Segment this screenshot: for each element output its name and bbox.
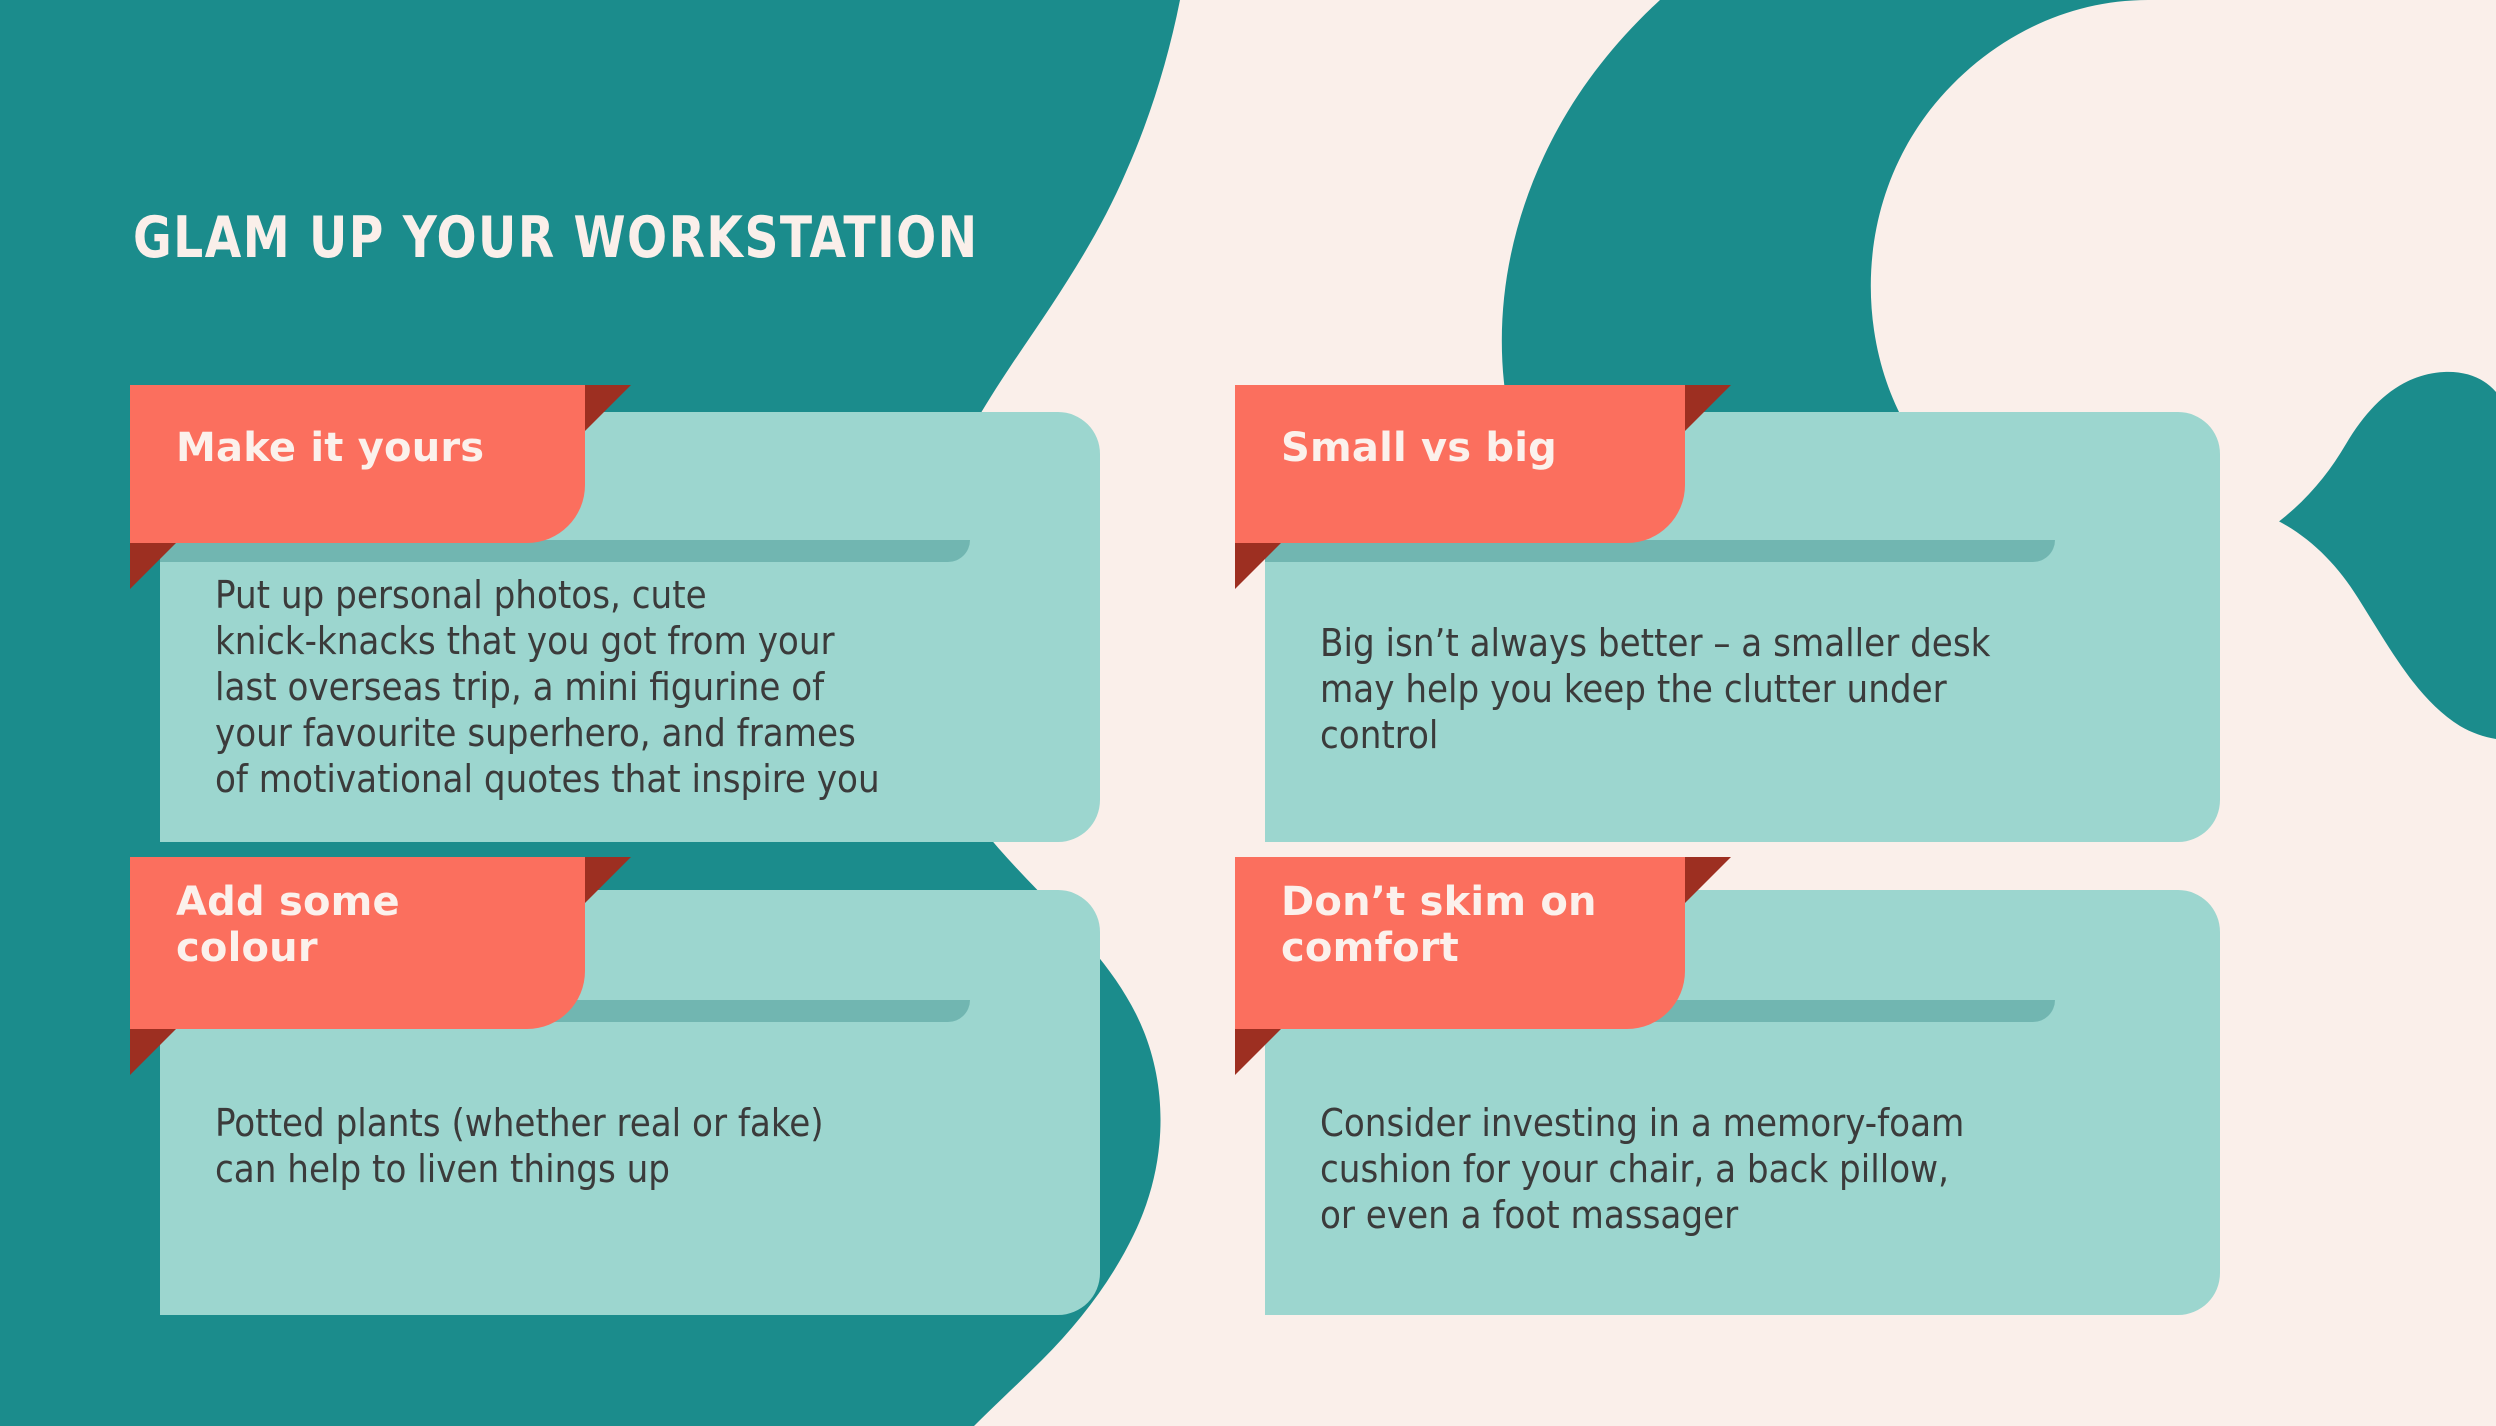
ribbon-fold-bottom-left-icon xyxy=(130,1029,176,1075)
ribbon-fold-top-right-icon xyxy=(585,857,631,903)
card-body-text: Big isn’t always better – a smaller desk… xyxy=(1320,620,2220,758)
card-body-text: Put up personal photos, cute knick-knack… xyxy=(215,572,1105,802)
ribbon-fold-top-right-icon xyxy=(1685,857,1731,903)
card-heading-label: Small vs big xyxy=(1281,425,1557,471)
ribbon-fold-bottom-left-icon xyxy=(1235,543,1281,589)
ribbon-fold-top-right-icon xyxy=(1685,385,1731,431)
card-body-text: Potted plants (whether real or fake) can… xyxy=(215,1100,1105,1192)
card-heading-ribbon[interactable]: Small vs big xyxy=(1235,385,1685,543)
ribbon-shadow-strip xyxy=(160,540,970,562)
card-heading-ribbon[interactable]: Add some colour xyxy=(130,857,585,1029)
card-heading-ribbon[interactable]: Make it yours xyxy=(130,385,585,543)
card-heading-label: Add some colour xyxy=(176,879,400,971)
ribbon-fold-bottom-left-icon xyxy=(130,543,176,589)
card-heading-label: Don’t skim on comfort xyxy=(1281,879,1597,971)
ribbon-shadow-strip xyxy=(1265,540,2055,562)
card-heading-ribbon[interactable]: Don’t skim on comfort xyxy=(1235,857,1685,1029)
slide-canvas: GLAM UP YOUR WORKSTATION Make it yours P… xyxy=(0,0,2496,1426)
card-heading-label: Make it yours xyxy=(176,425,484,471)
card-body-text: Consider investing in a memory-foam cush… xyxy=(1320,1100,2220,1238)
page-title: GLAM UP YOUR WORKSTATION xyxy=(133,205,979,271)
ribbon-fold-bottom-left-icon xyxy=(1235,1029,1281,1075)
ribbon-fold-top-right-icon xyxy=(585,385,631,431)
